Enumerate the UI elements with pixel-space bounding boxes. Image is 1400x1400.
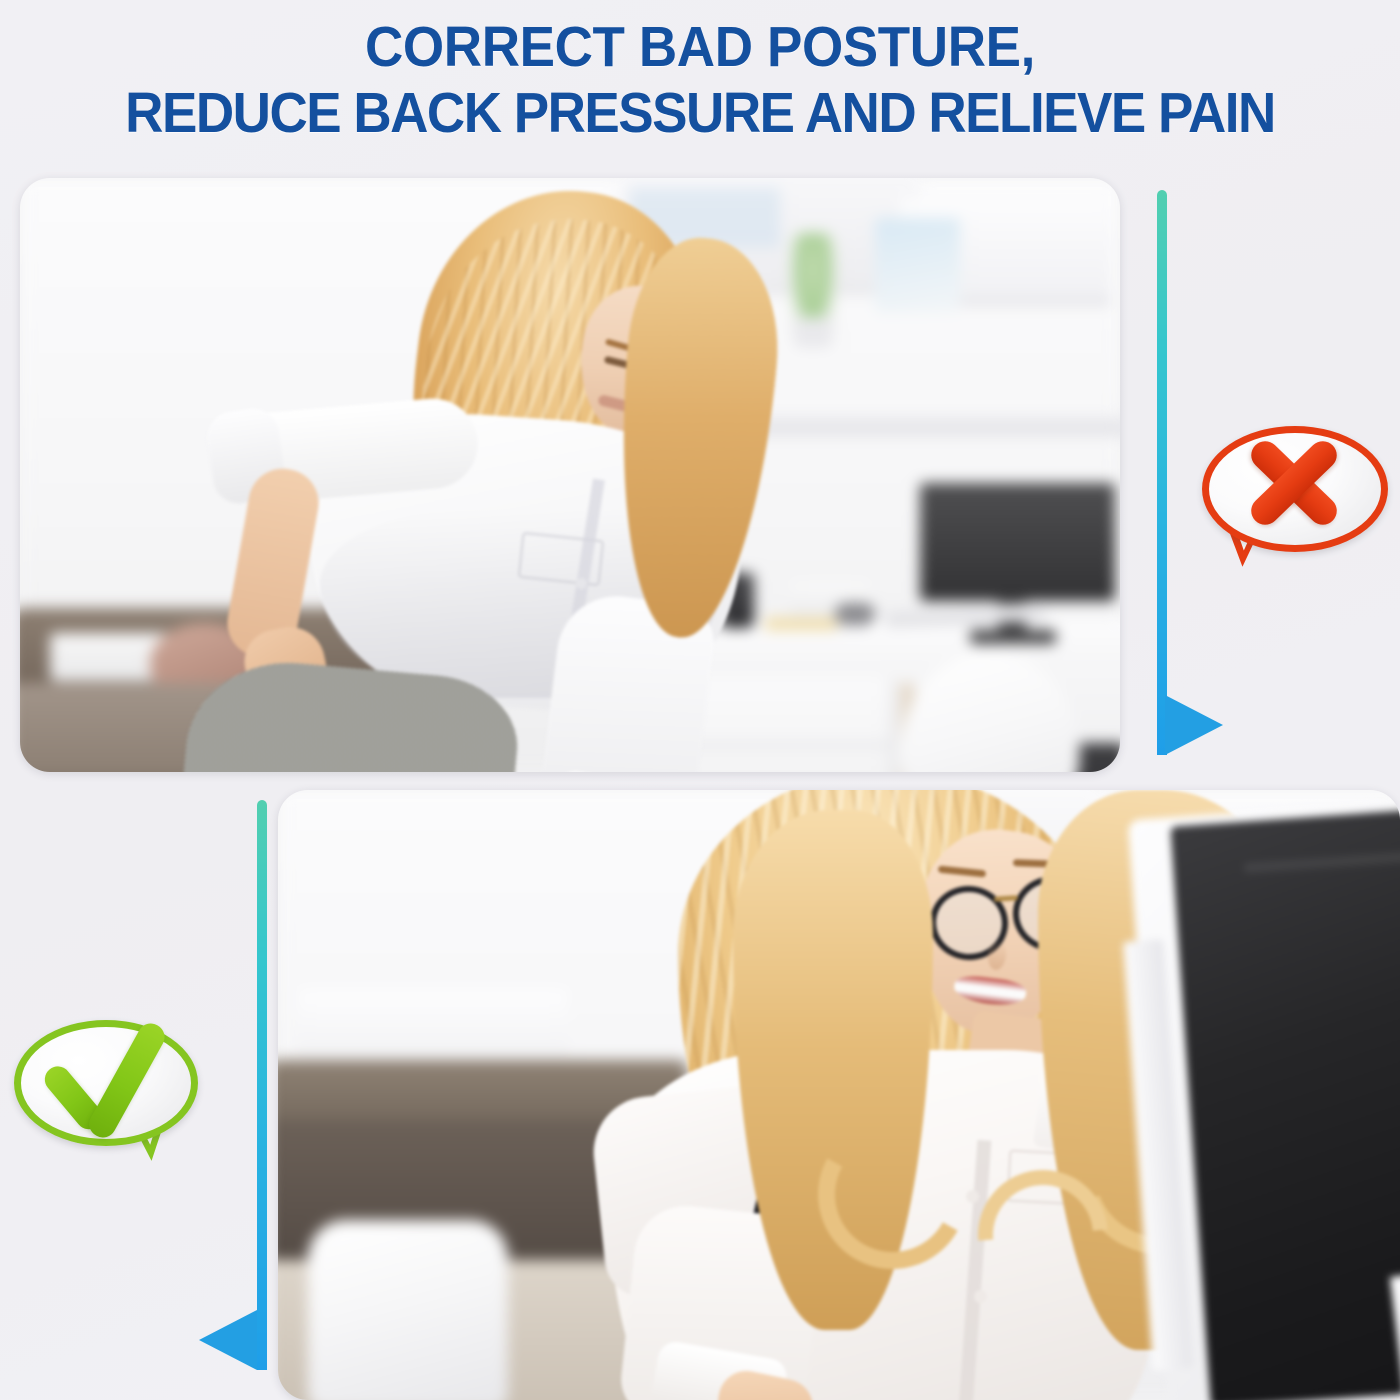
headline-line-1: CORRECT BAD POSTURE, <box>49 14 1351 80</box>
bad-posture-photo <box>20 178 1120 772</box>
check-mark-icon <box>40 1016 170 1136</box>
arrow-left-shaft <box>257 800 267 1370</box>
arrow-left-icon <box>197 800 267 1370</box>
bad-posture-subject <box>20 178 1120 772</box>
blouse-button <box>576 578 587 589</box>
arrow-right-shaft <box>1157 190 1167 755</box>
arrow-right-head <box>1165 695 1223 755</box>
infographic-canvas: CORRECT BAD POSTURE, REDUCE BACK PRESSUR… <box>0 0 1400 1400</box>
headline-line-2: REDUCE BACK PRESSURE AND RELIEVE PAIN <box>49 80 1351 146</box>
x-mark-icon <box>1246 430 1342 536</box>
good-posture-foreground <box>278 790 1400 1400</box>
arrow-left-head <box>199 1310 257 1370</box>
status-badge-correct <box>12 1018 202 1168</box>
page-title: CORRECT BAD POSTURE, REDUCE BACK PRESSUR… <box>49 14 1351 146</box>
good-posture-photo <box>278 790 1400 1400</box>
status-badge-incorrect <box>1198 424 1382 576</box>
monitor-screen <box>1170 791 1400 1400</box>
check-stroke-long <box>85 1019 170 1142</box>
